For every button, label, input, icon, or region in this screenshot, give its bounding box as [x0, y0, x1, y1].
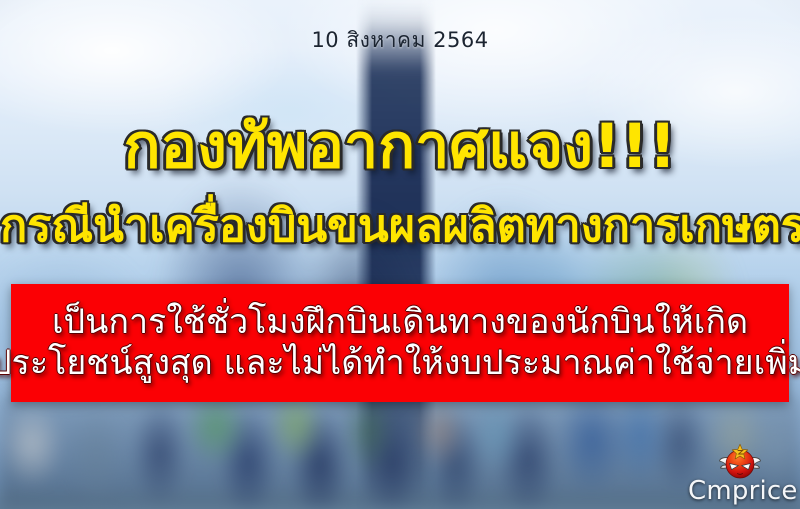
- banner-line-1: เป็นการใช้ชั่วโมงฝึกบินเดินทางของนักบินใ…: [52, 302, 748, 343]
- red-statement-banner: เป็นการใช้ชั่วโมงฝึกบินเดินทางของนักบินใ…: [11, 284, 789, 402]
- headline-primary: กองทัพอากาศแจง!!!: [0, 116, 800, 177]
- publication-date: 10 สิงหาคม 2564: [0, 24, 800, 57]
- headline-secondary: กรณีนำเครื่องบินขนผลผลิตทางการเกษตร: [0, 203, 800, 248]
- cmprice-logo: Cmprice: [688, 441, 792, 507]
- background-vignette: [0, 0, 800, 509]
- banner-line-2: ประโยชน์สูงสุด และไม่ได้ทำให้งบประมาณค่า…: [0, 343, 800, 384]
- news-graphic-canvas: 10 สิงหาคม 2564 กองทัพอากาศแจง!!! กรณีนำ…: [0, 0, 800, 509]
- cmprice-wordmark: Cmprice: [688, 476, 792, 506]
